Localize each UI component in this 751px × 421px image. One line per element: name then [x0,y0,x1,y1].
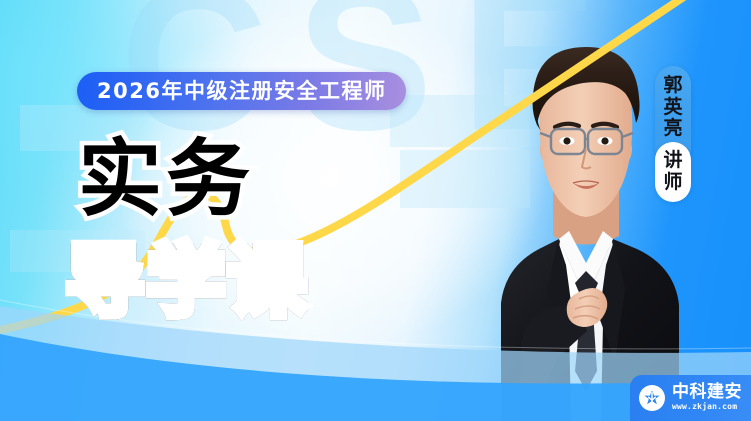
brand-text-block: 中科建安 www.zkjan.com [672,384,742,412]
brand-mark-icon [639,385,665,411]
instructor-role-label: 讲师 [655,150,691,193]
brand-name-label: 中科建安 [672,384,742,402]
exam-title-label: 2026年中级注册安全工程师 [97,81,386,102]
course-title-secondary: 导学课 [66,243,309,321]
exam-title-badge: 2026年中级注册安全工程师 [77,72,406,110]
instructor-badge: 郭英亮 讲师 [655,66,691,166]
course-title-primary: 实务 [78,137,254,221]
course-poster: CSE [0,0,751,421]
brand-url-label: www.zkjan.com [672,402,742,412]
brand-logo[interactable]: 中科建安 www.zkjan.com [630,375,751,421]
instructor-name-label: 郭英亮 [655,75,691,140]
instructor-role-pill: 讲师 [655,142,691,202]
